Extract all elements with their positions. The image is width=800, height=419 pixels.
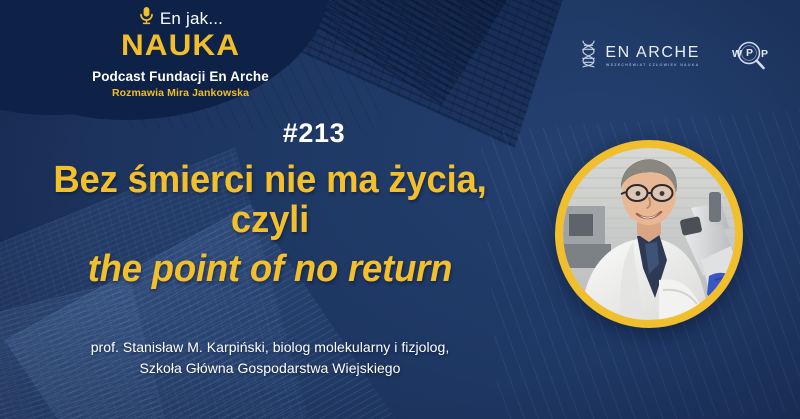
wpp-letter-right: P (761, 49, 768, 60)
en-arche-logo: EN ARCHE WSZECHŚWIAT CZŁOWIEK NAUKA (579, 40, 700, 73)
podcast-tagline-row: En jak... (78, 7, 283, 29)
background-building-dark-2 (306, 0, 564, 105)
podcast-episode-cover: En jak... NAUKA Podcast Fundacji En Arch… (0, 0, 800, 419)
brand-logos: EN ARCHE WSZECHŚWIAT CZŁOWIEK NAUKA W P … (579, 36, 772, 76)
wpp-letter-middle: P (746, 48, 753, 59)
episode-title: Bez śmierci nie ma życia, czyli the poin… (0, 160, 540, 289)
guest-caption-line-1: prof. Stanisław M. Karpiński, biolog mol… (20, 337, 520, 358)
guest-caption-line-2: Szkoła Główna Gospodarstwa Wiejskiego (20, 358, 520, 379)
podcast-wordmark: NAUKA (73, 30, 288, 62)
episode-title-line-1: Bez śmierci nie ma życia, czyli (11, 160, 529, 241)
podcast-tagline-top: En jak... (160, 10, 223, 27)
guest-photo (555, 140, 743, 328)
en-arche-text: EN ARCHE WSZECHŚWIAT CZŁOWIEK NAUKA (605, 45, 700, 68)
en-arche-name: EN ARCHE (605, 45, 700, 61)
podcast-logo: En jak... NAUKA Podcast Fundacji En Arch… (78, 7, 283, 99)
wpp-logo: W P P (726, 36, 772, 76)
podcast-host: Rozmawia Mira Jankowska (78, 87, 283, 99)
dna-helix-icon (579, 40, 598, 73)
microphone-icon (138, 6, 155, 30)
guest-caption: prof. Stanisław M. Karpiński, biolog mol… (20, 337, 520, 379)
guest-photo-image (563, 148, 735, 320)
episode-title-line-2: the point of no return (11, 249, 529, 289)
en-arche-tagline: WSZECHŚWIAT CZŁOWIEK NAUKA (605, 64, 700, 68)
podcast-subtitle: Podcast Fundacji En Arche (78, 70, 283, 85)
wpp-letter-left: W (732, 49, 742, 60)
